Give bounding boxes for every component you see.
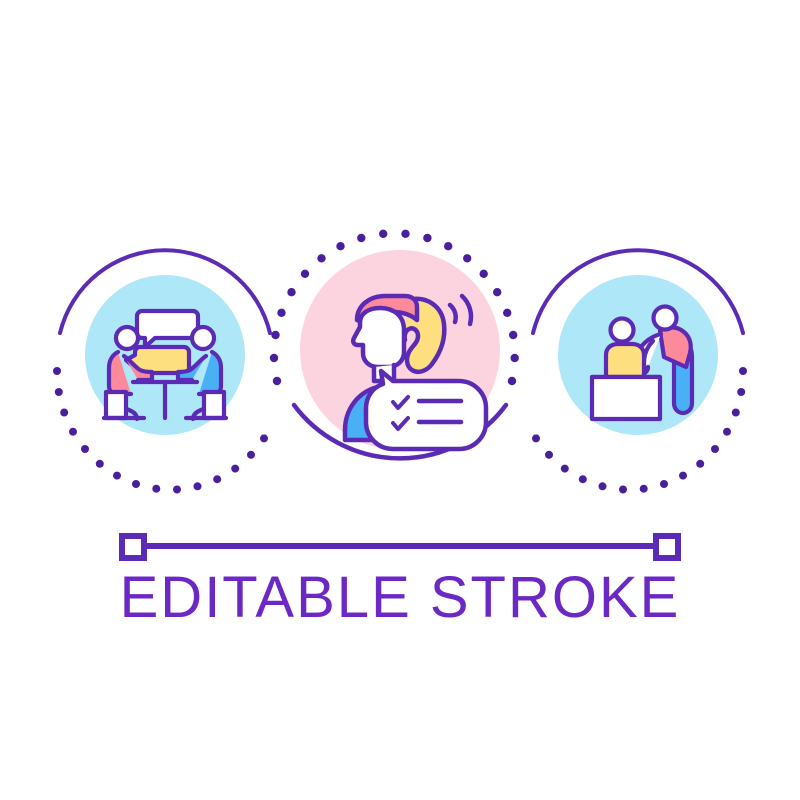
caption-editable-stroke: EDITABLE STROKE bbox=[120, 565, 681, 630]
person-right-head bbox=[192, 327, 214, 349]
concept-illustration: EDITABLE STROKE bbox=[0, 0, 800, 800]
person-left-chair bbox=[106, 392, 126, 418]
seated-person-body bbox=[606, 344, 644, 377]
person-left-head bbox=[116, 327, 138, 349]
stroke-bar-left-handle[interactable] bbox=[122, 536, 144, 558]
node-left-group[interactable] bbox=[53, 250, 270, 493]
seated-person-head bbox=[611, 319, 634, 342]
person-right-chair bbox=[204, 392, 224, 418]
checklist-bubble bbox=[366, 371, 486, 449]
stroke-bar-right-handle[interactable] bbox=[656, 536, 678, 558]
illustration-root: EDITABLE STROKE bbox=[0, 0, 800, 800]
editable-stroke-bar[interactable] bbox=[122, 536, 678, 558]
node-center-group[interactable] bbox=[270, 230, 519, 459]
standing-person-head bbox=[654, 307, 677, 330]
node-right-group[interactable] bbox=[532, 250, 747, 493]
desk-body bbox=[592, 377, 660, 419]
